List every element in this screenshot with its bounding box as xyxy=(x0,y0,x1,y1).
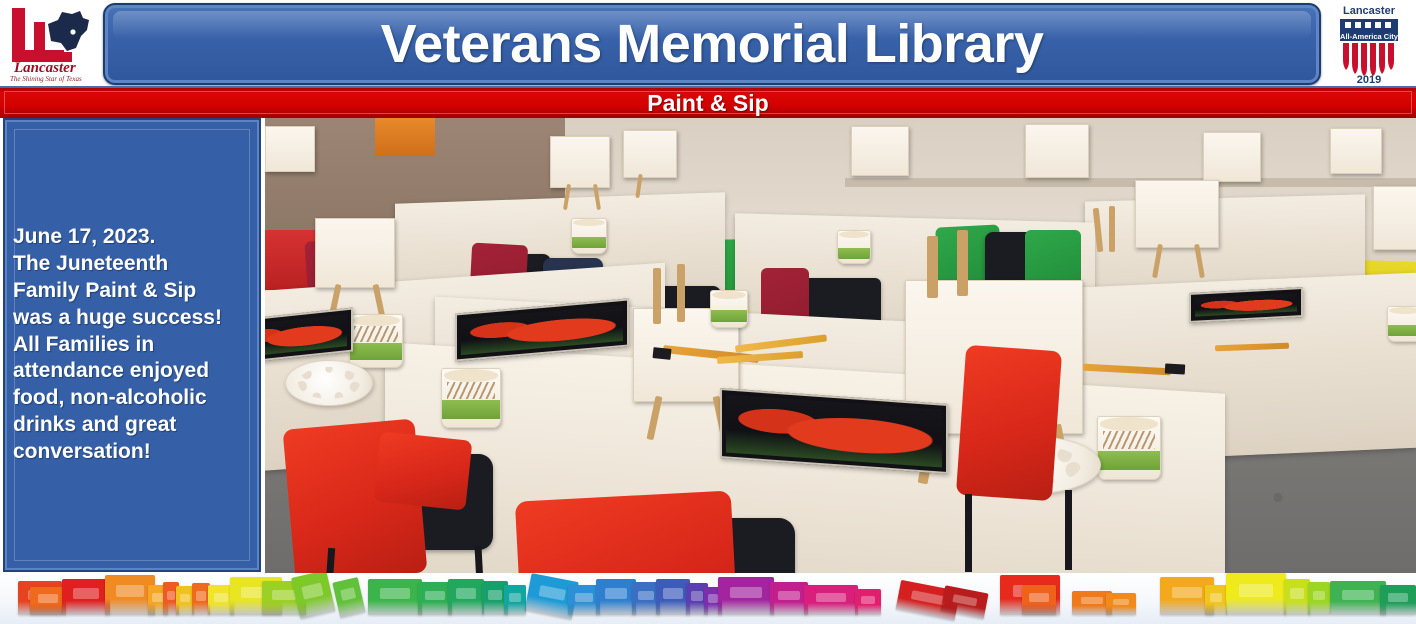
rainbow-book-spines-strip xyxy=(0,573,1416,624)
photo-paper-cup xyxy=(571,218,607,254)
badge-city-label: Lancaster xyxy=(1343,5,1396,17)
book-spine xyxy=(596,579,636,615)
photo-easel-leg xyxy=(927,236,938,298)
photo-canvas xyxy=(265,126,315,172)
book-spine xyxy=(1308,582,1330,615)
book-spine xyxy=(804,585,858,615)
badge-award-label: All-America City xyxy=(1340,32,1399,41)
photo-brush-holder xyxy=(1109,206,1115,252)
photo-paper-cup xyxy=(1097,416,1161,480)
city-logo-tagline: The Shining Star of Texas xyxy=(10,75,82,83)
book-spine xyxy=(718,577,774,615)
photo-chair-leg xyxy=(1065,490,1072,570)
event-description: June 17, 2023. The Juneteenth Family Pai… xyxy=(5,224,230,466)
photo-apron xyxy=(374,431,473,510)
page-header: Lancaster The Shining Star of Texas Vete… xyxy=(0,0,1416,86)
photo-canvas xyxy=(1373,186,1416,250)
city-logo-name: Lancaster xyxy=(13,60,76,76)
photo-paper-cup xyxy=(1387,306,1416,342)
photo-canvas xyxy=(1330,128,1382,174)
content-area: June 17, 2023. The Juneteenth Family Pai… xyxy=(0,118,1416,573)
book-spine xyxy=(332,577,365,618)
photo-canvas xyxy=(851,126,909,176)
photo-paper-cup xyxy=(710,290,748,328)
event-subtitle-bar: Paint & Sip xyxy=(0,86,1416,118)
photo-paper-cup xyxy=(349,314,403,368)
book-spine xyxy=(30,587,66,615)
photo-paper-cup xyxy=(441,368,501,428)
photo-sample-painting xyxy=(1189,287,1303,323)
book-spine xyxy=(1226,573,1286,615)
photo-canvas xyxy=(623,130,677,178)
book-spine xyxy=(855,589,881,615)
all-america-city-shield-icon: Lancaster All-America City xyxy=(1326,1,1412,85)
library-event-flyer: Lancaster The Shining Star of Texas Vete… xyxy=(0,0,1416,624)
photo-easel-leg xyxy=(957,230,968,296)
book-spine xyxy=(770,582,808,615)
book-spine xyxy=(1284,579,1310,615)
book-spine xyxy=(448,579,484,615)
book-spine xyxy=(1205,585,1227,615)
page-title: Veterans Memorial Library xyxy=(381,13,1044,75)
photo-easel-leg xyxy=(653,268,661,324)
book-spine xyxy=(62,579,110,615)
book-spine xyxy=(1380,585,1416,615)
photo-canvas xyxy=(1025,124,1089,178)
book-spine xyxy=(368,579,422,615)
book-spine xyxy=(656,579,690,615)
book-spine xyxy=(1106,593,1136,615)
photo-paintbrush-tip xyxy=(652,347,671,360)
photo-paintbrush-tip xyxy=(1165,363,1185,374)
event-photo xyxy=(265,118,1416,573)
photo-banner xyxy=(375,118,435,156)
photo-apron xyxy=(515,490,739,573)
badge-year: 2019 xyxy=(1357,74,1381,85)
lancaster-l-texas-logo: Lancaster The Shining Star of Texas xyxy=(4,2,100,84)
book-spine xyxy=(1330,581,1386,615)
book-spine xyxy=(1022,585,1056,615)
photo-wall-trim xyxy=(845,178,1416,187)
photo-paper-cup xyxy=(837,230,871,264)
book-spine xyxy=(418,582,452,615)
library-title-plate: Veterans Memorial Library xyxy=(103,3,1321,85)
event-subtitle: Paint & Sip xyxy=(647,90,768,117)
photo-canvas xyxy=(1135,180,1219,248)
photo-easel-leg xyxy=(677,264,685,322)
photo-canvas xyxy=(1203,132,1261,182)
book-spine xyxy=(504,585,526,615)
photo-chair-leg xyxy=(965,494,972,572)
photo-canvas xyxy=(315,218,395,288)
photo-canvas xyxy=(550,136,610,188)
caption-panel: June 17, 2023. The Juneteenth Family Pai… xyxy=(3,118,261,572)
photo-paint-palette xyxy=(285,360,373,406)
photo-apron xyxy=(956,345,1062,501)
